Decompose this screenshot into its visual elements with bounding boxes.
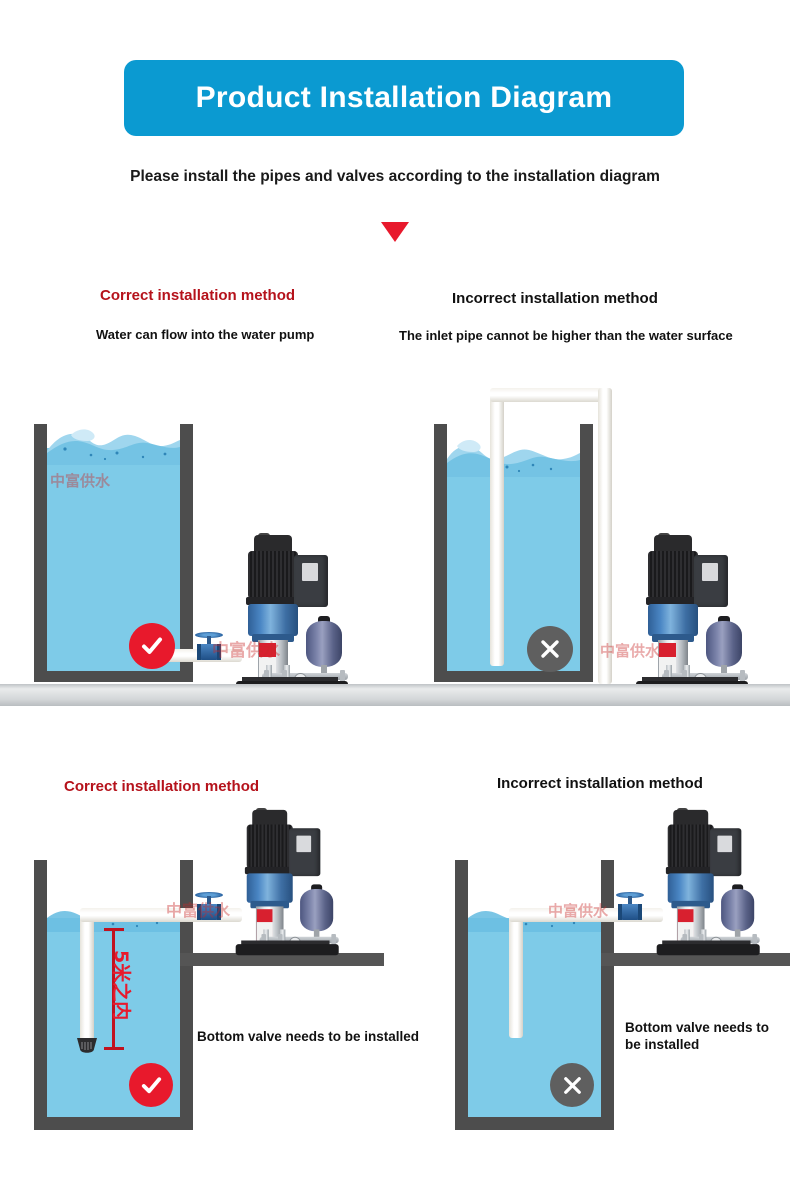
row1-correct-description: Water can flow into the water pump bbox=[96, 327, 314, 342]
pump-blue-body bbox=[668, 873, 714, 902]
inlet-pipe-horizontal-top bbox=[490, 388, 612, 402]
pit-wall-left bbox=[455, 860, 468, 1130]
suction-pipe-vertical-no-foot-valve bbox=[509, 914, 523, 1038]
gate-valve bbox=[613, 888, 647, 922]
watermark: 中富供水 bbox=[166, 897, 230, 921]
dimension-cap-bottom bbox=[104, 1047, 124, 1050]
pit-wall-left bbox=[34, 860, 47, 1130]
tank-wall-right bbox=[580, 424, 593, 682]
page-title: Product Installation Diagram bbox=[196, 81, 613, 115]
dimension-label: 5米之内 bbox=[109, 950, 136, 1020]
pressure-tank bbox=[300, 889, 333, 931]
motor-body bbox=[648, 551, 698, 599]
valve-flange-left bbox=[618, 904, 622, 920]
pressure-tank bbox=[706, 621, 742, 667]
row1-correct-heading: Correct installation method bbox=[100, 287, 295, 304]
base-plate bbox=[236, 944, 339, 955]
motor-body bbox=[247, 825, 293, 869]
booster-pump-unit bbox=[232, 808, 342, 955]
pump-blue-body bbox=[247, 873, 293, 902]
inlet-pipe-vertical-inside bbox=[490, 398, 504, 666]
incorrect-cross-badge bbox=[550, 1063, 594, 1107]
page-title-banner: Product Installation Diagram bbox=[124, 60, 684, 136]
valve-body bbox=[621, 904, 639, 920]
correct-check-badge bbox=[129, 1063, 173, 1107]
foot-valve-strainer-icon bbox=[74, 1036, 100, 1058]
watermark: 中富供水 bbox=[50, 470, 110, 491]
pit-wall-bottom bbox=[455, 1117, 614, 1130]
booster-pump-unit bbox=[232, 533, 352, 693]
pressure-tank bbox=[306, 621, 342, 667]
row2-correct-heading: Correct installation method bbox=[64, 778, 259, 795]
tank-wall-left bbox=[434, 424, 447, 682]
motor-body bbox=[668, 825, 714, 869]
installation-diagram-page: Product Installation Diagram Please inst… bbox=[0, 0, 790, 1198]
page-subtitle: Please install the pipes and valves acco… bbox=[0, 168, 790, 186]
correct-check-badge bbox=[129, 623, 175, 669]
control-box-display bbox=[717, 836, 732, 853]
pit-wall-bottom bbox=[34, 1117, 193, 1130]
pressure-tank bbox=[721, 889, 754, 931]
pump-blue-body bbox=[248, 604, 298, 636]
row2-incorrect-heading: Incorrect installation method bbox=[497, 775, 703, 792]
suction-pipe-vertical bbox=[80, 914, 94, 1042]
pump-blue-body bbox=[648, 604, 698, 636]
row2-correct-note: Bottom valve needs to be installed bbox=[197, 1029, 419, 1044]
row1-incorrect-description: The inlet pipe cannot be higher than the… bbox=[399, 328, 733, 343]
valve-flange-right bbox=[638, 904, 642, 920]
booster-pump-unit bbox=[653, 808, 763, 955]
watermark: 中富供水 bbox=[600, 640, 660, 661]
tank-wall-left bbox=[34, 424, 47, 682]
control-box-display bbox=[702, 563, 718, 581]
row1-incorrect-heading: Incorrect installation method bbox=[452, 290, 658, 307]
motor-body bbox=[248, 551, 298, 599]
watermark: 中富供水 bbox=[548, 900, 608, 921]
check-icon bbox=[139, 1073, 164, 1098]
triangle-down-icon bbox=[381, 222, 409, 242]
ground-slab bbox=[0, 684, 790, 706]
cross-icon bbox=[560, 1073, 585, 1098]
base-plate bbox=[657, 944, 760, 955]
incorrect-cross-badge bbox=[527, 626, 573, 672]
control-box-display bbox=[302, 563, 318, 581]
control-box-display bbox=[296, 836, 311, 853]
check-icon bbox=[139, 633, 165, 659]
booster-pump-unit bbox=[632, 533, 752, 693]
watermark: 中富供水 bbox=[212, 636, 280, 661]
cross-icon bbox=[537, 636, 563, 662]
valve-flange-left bbox=[197, 644, 201, 660]
row2-incorrect-note: Bottom valve needs to be installed bbox=[625, 1019, 775, 1053]
